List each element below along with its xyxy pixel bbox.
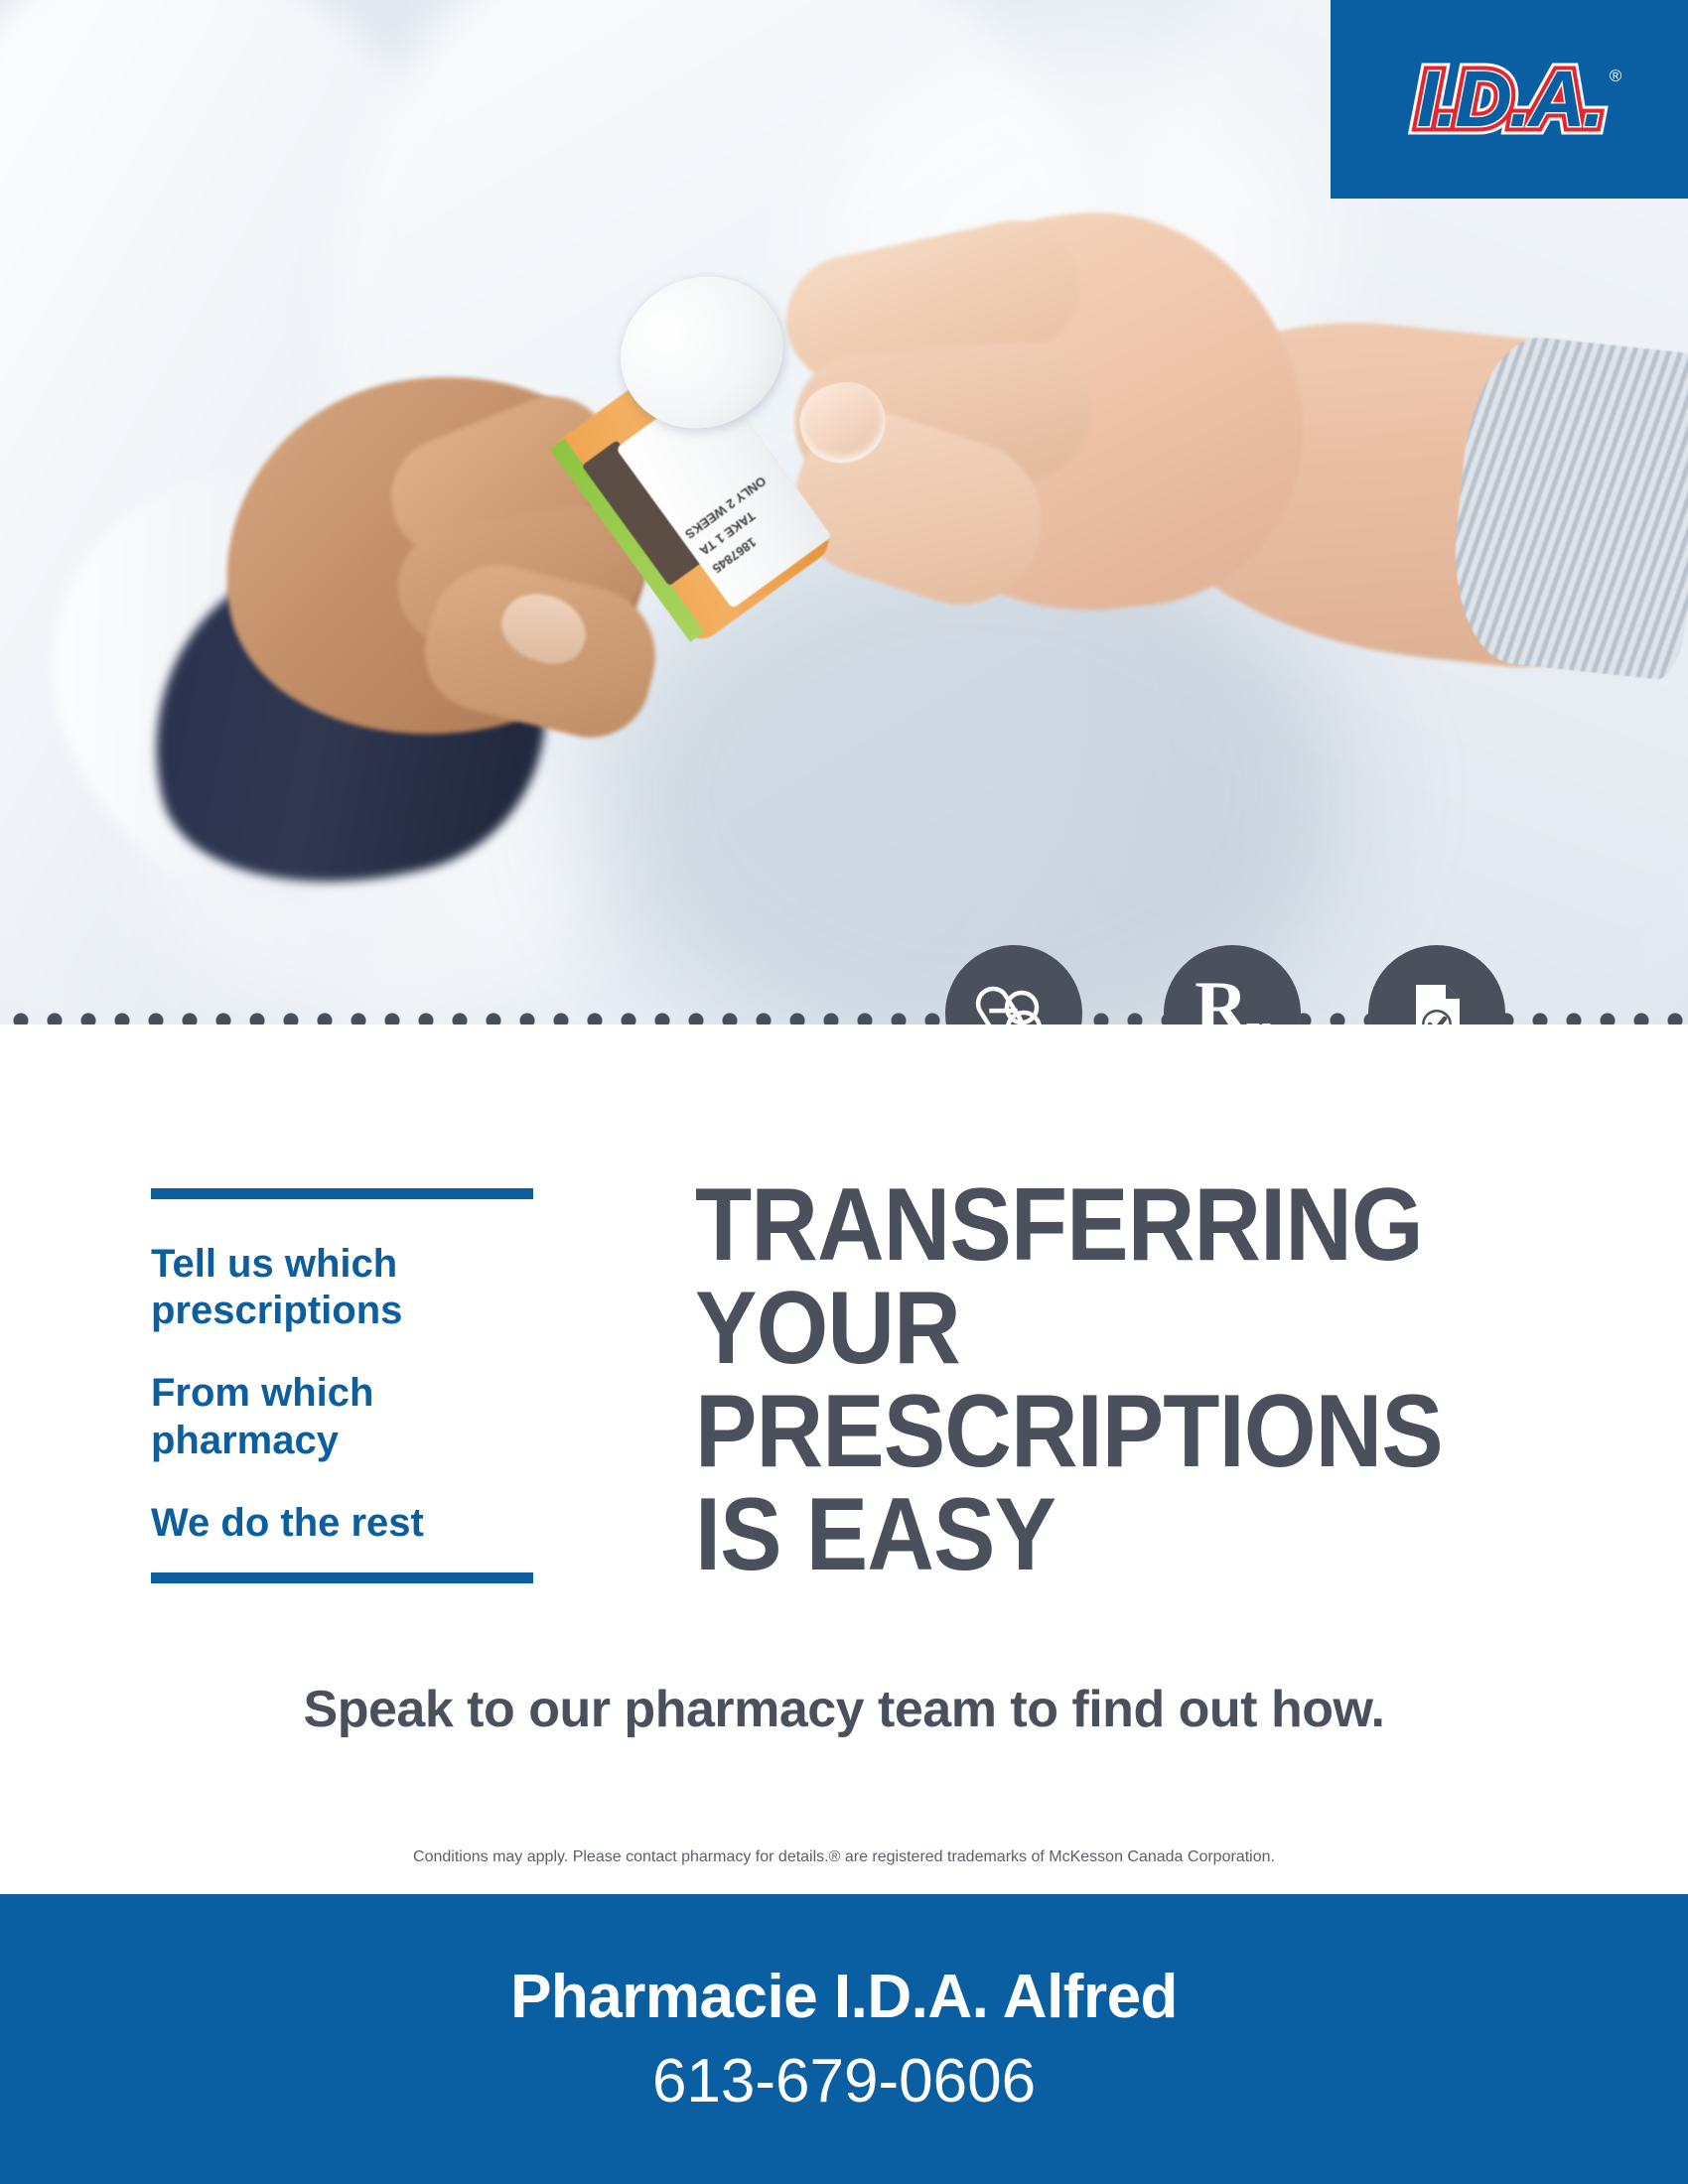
- page-title: TRANSFERRING YOUR PRESCRIPTIONS IS EASY: [695, 1173, 1517, 1586]
- headline-line-4: IS EASY: [695, 1483, 1517, 1586]
- legal-fineprint: Conditions may apply. Please contact pha…: [0, 1848, 1688, 1866]
- poster: 1867845 TAKE 1 TA ONLY 2 WEEKS I.D.A. I.…: [0, 0, 1688, 2184]
- steps-rule-top: [151, 1188, 533, 1199]
- step-item-1: Tell us which prescriptions: [151, 1241, 533, 1334]
- footer-banner: Pharmacie I.D.A. Alfred 613-679-0606: [0, 1894, 1688, 2184]
- registered-mark-icon: ®: [1610, 68, 1622, 84]
- headline-line-2: YOUR: [695, 1277, 1517, 1380]
- step-item-3: We do the rest: [151, 1500, 533, 1547]
- step-item-2: From which pharmacy: [151, 1370, 533, 1463]
- ida-logo: I.D.A. I.D.A. I.D.A. ®: [1331, 0, 1688, 199]
- headline-line-1: TRANSFERRING: [695, 1173, 1517, 1277]
- ida-logo-face: I.D.A.: [1417, 55, 1602, 143]
- steps-rule-bottom: [151, 1572, 533, 1583]
- headline-line-3: PRESCRIPTIONS: [695, 1380, 1517, 1483]
- subheading: Speak to our pharmacy team to find out h…: [0, 1680, 1688, 1739]
- steps-column: Tell us which prescriptions From which p…: [151, 1188, 533, 1583]
- ida-logo-lettering: I.D.A. I.D.A. I.D.A. ®: [1417, 60, 1602, 139]
- content-area: Tell us which prescriptions From which p…: [0, 1024, 1688, 1894]
- pharmacy-name: Pharmacie I.D.A. Alfred: [510, 1962, 1178, 2032]
- pharmacy-phone[interactable]: 613-679-0606: [652, 2046, 1036, 2116]
